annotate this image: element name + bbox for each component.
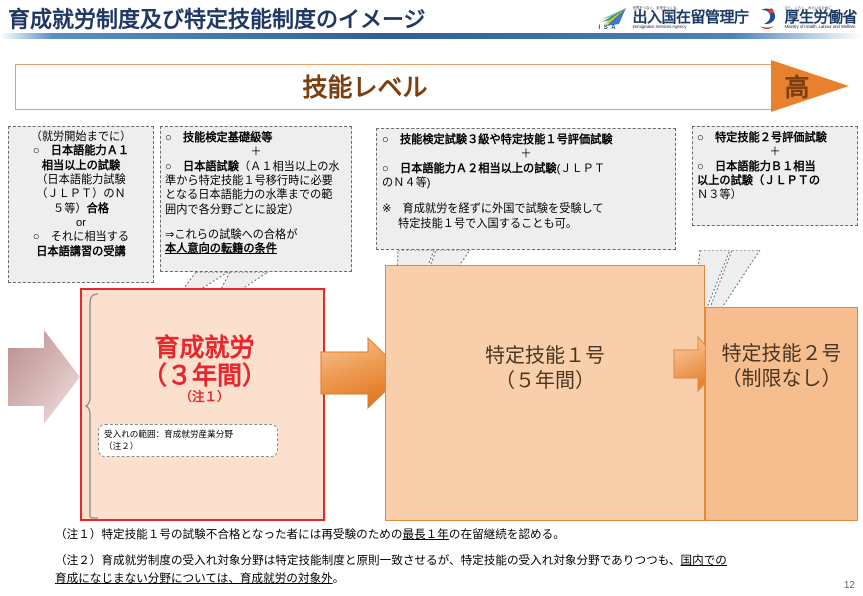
box2-line-2b: （Ａ１相当以上の水 [239, 161, 340, 173]
box3-line-2b: (ＪＬＰＴ [557, 163, 605, 175]
isa-name-en: Immigration Services Agency [632, 25, 748, 30]
ikusei-note-ref: （注１） [82, 390, 327, 404]
footnote-2-prefix: （注２） [55, 554, 101, 567]
tokutei2-title: 特定技能２号 （制限なし） [706, 342, 857, 392]
footnote-1-text-a: 特定技能１号の試験不合格となった者には再受験のための [101, 528, 402, 541]
isa-logo: I S A 世界をつなぐ、未来をつくる。 出入国在留管理庁 Immigratio… [598, 6, 748, 30]
tokutei-ginou-1-box: 特定技能１号 （５年間） [385, 265, 705, 521]
footnote-2-underline-a: 国内での [681, 554, 727, 567]
box1-line-7: ○ それに相当する [11, 230, 151, 244]
box1-line-8: 日本語講習の受講 [11, 245, 151, 259]
isa-mark-label: I S A [598, 25, 616, 31]
box4-line-3: 以上の試験（ＪＬＰＴの [697, 174, 853, 188]
banner-label: 技能レベル [15, 64, 715, 108]
footnote-2-underline-b: 育成になじまない分野については、育成就労の対象外 [55, 572, 333, 585]
box2-line-2: ○ 日本語試験（Ａ１相当以上の水 [165, 160, 347, 174]
slide-root: 育成就労制度及び特定技能制度のイメージ I S A 世界をつなぐ、未来をつくる。… [0, 0, 863, 595]
page-title: 育成就労制度及び特定技能制度のイメージ [8, 2, 426, 34]
box1-line-1: ○ 日本語能力Ａ１ [11, 144, 151, 158]
box3-plus: ＋ [382, 147, 670, 161]
entry-arrow-icon [4, 328, 82, 426]
mhlw-logo: ひと、くらし、みらいのために 厚生労働省 Ministry of Health,… [758, 6, 857, 30]
box3-line-2a: ○ 日本語能力Ａ２相当以上の試験 [382, 163, 557, 175]
box1-line-2: 相当以上の試験 [11, 159, 151, 173]
box3-note-1: ※ 育成就労を経ずに外国で試験を受験して [382, 202, 670, 216]
ikusei-scope-note: 受入れの範囲：育成就労産業分野 （注２） [98, 424, 278, 457]
tokutei2-title-line2: （制限なし） [706, 367, 857, 392]
tokutei1-title-line1: 特定技能１号 [386, 344, 704, 369]
ikusei-title-line1: 育成就労 [82, 334, 327, 362]
box2-line-4: となる日本語能力の水準までの範 [165, 188, 347, 202]
tokutei1-title-line2: （５年間） [386, 369, 704, 394]
box2-spacer [165, 217, 347, 228]
mhlw-emblem-icon [758, 6, 780, 30]
box2-arrow-line: ⇒これらの試験への合格が [165, 228, 347, 242]
box3-line-3: のＮ４等) [382, 176, 670, 190]
box4-plus: ＋ [697, 145, 853, 159]
box2-line-2a: ○ 日本語試験 [165, 161, 239, 173]
box4-line-1: ○ 特定技能２号評価試験 [697, 131, 853, 145]
requirement-box-pre-employment: （就労開始までに） ○ 日本語能力Ａ１ 相当以上の試験 （日本語能力試験 （ＪＬ… [8, 126, 154, 283]
tokutei-ginou-2-box: 特定技能２号 （制限なし） [705, 307, 858, 521]
mhlw-name: 厚生労働省 [784, 10, 857, 25]
ikusei-scope-note-line2: （注２） [104, 441, 272, 453]
footnote-2-text-b: 。 [333, 572, 345, 585]
tokutei2-title-line1: 特定技能２号 [706, 342, 857, 367]
requirement-box-tokutei2-entry: ○ 特定技能２号評価試験 ＋ ○ 日本語能力Ｂ１相当 以上の試験（ＪＬＰＴの Ｎ… [692, 126, 858, 226]
box1-line-3: （日本語能力試験 [11, 173, 151, 187]
ikusei-title-line2: （３年間） [82, 362, 327, 390]
box3-note-2: 特定技能１号で入国することも可。 [382, 217, 670, 231]
box4-line-4: Ｎ３等） [697, 188, 853, 202]
skill-level-banner: 技能レベル 高 [15, 60, 848, 112]
box4-line-2: ○ 日本語能力Ｂ１相当 [697, 160, 853, 174]
footnote-2: （注２）育成就労制度の受入れ対象分野は特定技能制度と原則一致させるが、特定技能の… [55, 552, 855, 587]
footnote-1-underline: 最長１年 [402, 528, 448, 541]
isa-emblem-icon: I S A [598, 6, 628, 30]
agency-logos: I S A 世界をつなぐ、未来をつくる。 出入国在留管理庁 Immigratio… [598, 3, 857, 33]
box3-spacer [382, 190, 670, 202]
requirement-box-tokutei1-entry: ○ 技能検定試験３級や特定技能１号評価試験 ＋ ○ 日本語能力Ａ２相当以上の試験… [376, 128, 676, 250]
box3-line-1: ○ 技能検定試験３級や特定技能１号評価試験 [382, 133, 670, 147]
mhlw-name-en: Ministry of Health, Labour and Welfare [784, 25, 857, 30]
tokutei1-title: 特定技能１号 （５年間） [386, 344, 704, 394]
box1-line-5: ５等）合格 [11, 202, 151, 216]
header-divider [0, 33, 863, 39]
box1-line-6: or [11, 216, 151, 230]
banner-high-label: 高 [775, 64, 819, 108]
footnotes: （注１）特定技能１号の試験不合格となった者には再受験のための最長１年の在留継続を… [55, 526, 855, 596]
box1-line-4: （ＪＬＰＴ）のＮ [11, 187, 151, 201]
page-number: 12 [844, 580, 855, 591]
footnote-1-text-b: の在留継続を認める。 [449, 528, 565, 541]
requirement-box-transfer-conditions: ○ 技能検定基礎級等 ＋ ○ 日本語試験（Ａ１相当以上の水 準から特定技能１号移… [160, 126, 352, 272]
box2-line-5: 囲内で各分野ごとに設定） [165, 203, 347, 217]
box3-line-2: ○ 日本語能力Ａ２相当以上の試験(ＪＬＰＴ [382, 162, 670, 176]
box2-line-3: 準から特定技能１号移行時に必要 [165, 174, 347, 188]
footnote-1-prefix: （注１） [55, 528, 101, 541]
box1-line-0: （就労開始までに） [11, 130, 151, 144]
isa-name: 出入国在留管理庁 [632, 10, 748, 25]
footnote-1: （注１）特定技能１号の試験不合格となった者には再受験のための最長１年の在留継続を… [55, 526, 855, 543]
scope-bracket-icon [84, 292, 102, 520]
ikusei-shuro-box: 育成就労 （３年間） （注１） 受入れの範囲：育成就労産業分野 （注２） [80, 288, 325, 521]
ikusei-scope-note-line1: 受入れの範囲：育成就労産業分野 [104, 429, 272, 441]
box2-emphasis: 本人意向の転籍の条件 [165, 242, 347, 256]
footnote-2-text-a: 育成就労制度の受入れ対象分野は特定技能制度と原則一致させるが、特定技能の受入れ対… [101, 554, 680, 567]
box2-line-1: ○ 技能検定基礎級等 [165, 131, 347, 145]
ikusei-title: 育成就労 （３年間） （注１） [82, 334, 327, 404]
box2-plus: ＋ [165, 145, 347, 159]
